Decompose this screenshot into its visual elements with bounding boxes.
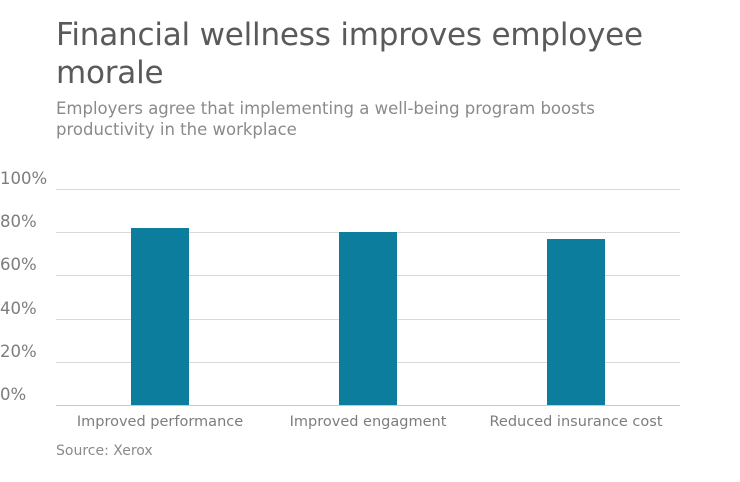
- plot-wrapper: 0%20%40%60%80%100% Improved performanceI…: [0, 0, 740, 482]
- source-note: Source: Xerox: [56, 443, 153, 459]
- bar-slot: [264, 189, 472, 405]
- y-axis-tick-label: 100%: [0, 169, 52, 188]
- bar[interactable]: [131, 228, 189, 405]
- gridline: [56, 405, 680, 406]
- y-axis-tick-label: 40%: [0, 299, 52, 318]
- x-axis-labels: Improved performanceImproved engagmentRe…: [56, 414, 680, 438]
- y-axis-tick-label: 20%: [0, 342, 52, 361]
- chart-figure: Financial wellness improves employee mor…: [0, 0, 740, 482]
- y-axis-tick-label: 60%: [0, 255, 52, 274]
- bar[interactable]: [339, 232, 397, 405]
- x-axis-category-label: Reduced insurance cost: [489, 414, 662, 430]
- y-axis-tick-label: 80%: [0, 212, 52, 231]
- x-axis-category-label: Improved engagment: [290, 414, 447, 430]
- bar[interactable]: [547, 239, 605, 405]
- y-axis-tick-label: 0%: [0, 385, 52, 404]
- bar-slot: [56, 189, 264, 405]
- bar-slot: [472, 189, 680, 405]
- x-axis-category-label: Improved performance: [77, 414, 243, 430]
- bars-layer: [56, 189, 680, 405]
